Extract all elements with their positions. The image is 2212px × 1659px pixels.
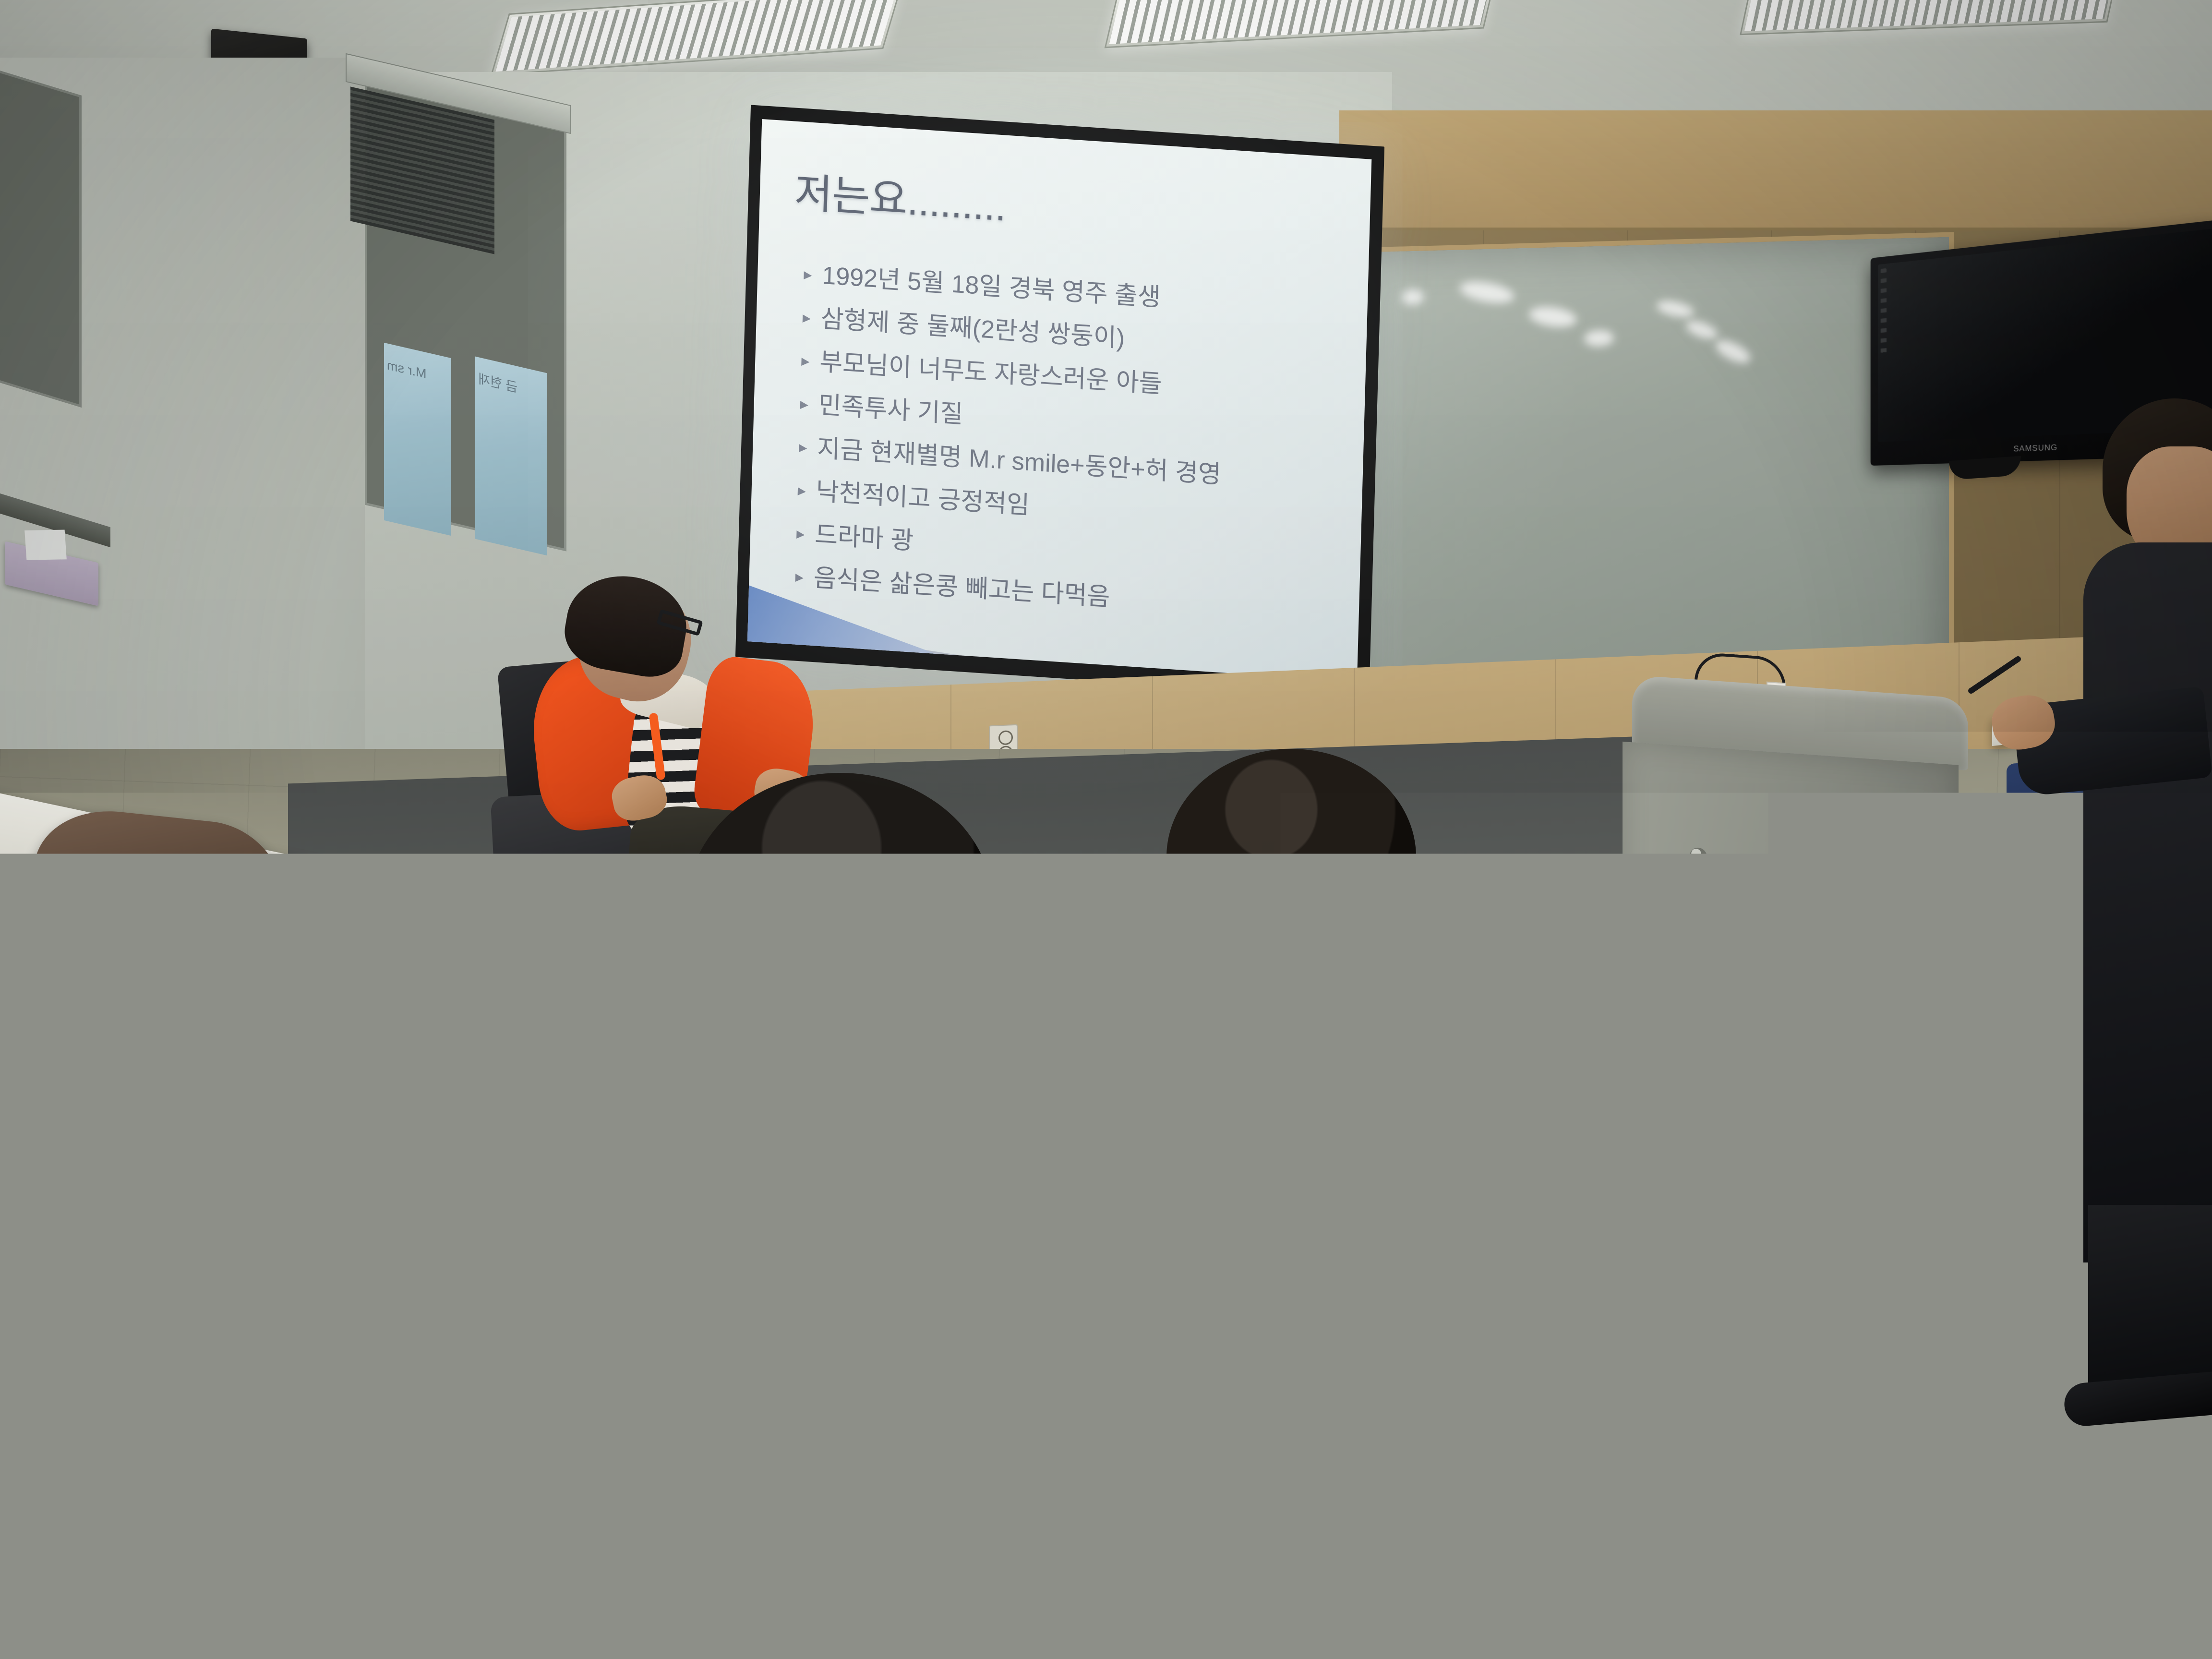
whiteboard-glare <box>1655 298 1696 320</box>
slide-reflection-left: M.r sm <box>384 349 451 395</box>
whiteboard-glare <box>1584 330 1614 347</box>
person-attendee-front-left <box>0 1166 298 1659</box>
podium-vent-perforations <box>1663 976 1792 1118</box>
window-glass-pane-left: M.r sm <box>384 343 451 536</box>
podium-lock-icon[interactable] <box>1690 847 1707 866</box>
person-facilitator-right <box>2045 398 2212 1397</box>
slide-bullet-list: 1992년 5월 18일 경북 영주 출생 삼형제 중 둘째(2란성 쌍둥이) … <box>791 252 1349 634</box>
suit-jacket <box>2083 542 2212 1262</box>
window-frame-far-left <box>0 68 82 408</box>
slide-reflection-right: 금 현재 <box>475 363 547 410</box>
chair-leg <box>1439 1294 1473 1447</box>
podium-vent-perforations <box>1788 999 1917 1141</box>
projected-slide: 저는요......... 1992년 5월 18일 경북 영주 출생 삼형제 중… <box>747 119 1371 682</box>
podium-body <box>1623 742 1959 1159</box>
slide-title: 저는요......... <box>794 159 1007 233</box>
whiteboard-glare <box>1402 289 1424 305</box>
classroom-photo-scene: M.r sm 금 현재 SAMSUNG 저는요......... 1992년 5… <box>0 0 2212 1659</box>
whiteboard-glare <box>1458 278 1516 307</box>
teal-garment <box>0 1426 298 1659</box>
podium-lock-icon[interactable] <box>1891 880 1909 899</box>
whiteboard-glare <box>1683 317 1720 343</box>
tv-button-strip[interactable] <box>1881 268 1887 355</box>
window-glass-pane-right: 금 현재 <box>475 357 547 556</box>
power-wheelchair-foreground: Powered by Able Power <box>394 1296 1344 1659</box>
wood-panel-upper-band <box>1339 110 2212 230</box>
whiteboard-glare <box>1712 336 1754 367</box>
chair-leg <box>1355 1306 1374 1446</box>
whiteboard-glare <box>1527 304 1578 330</box>
projection-screen: 저는요......... 1992년 5월 18일 경북 영주 출생 삼형제 중… <box>735 105 1384 698</box>
lectern-podium[interactable] <box>1623 674 1968 1217</box>
chair-backrest <box>1315 1044 1474 1251</box>
